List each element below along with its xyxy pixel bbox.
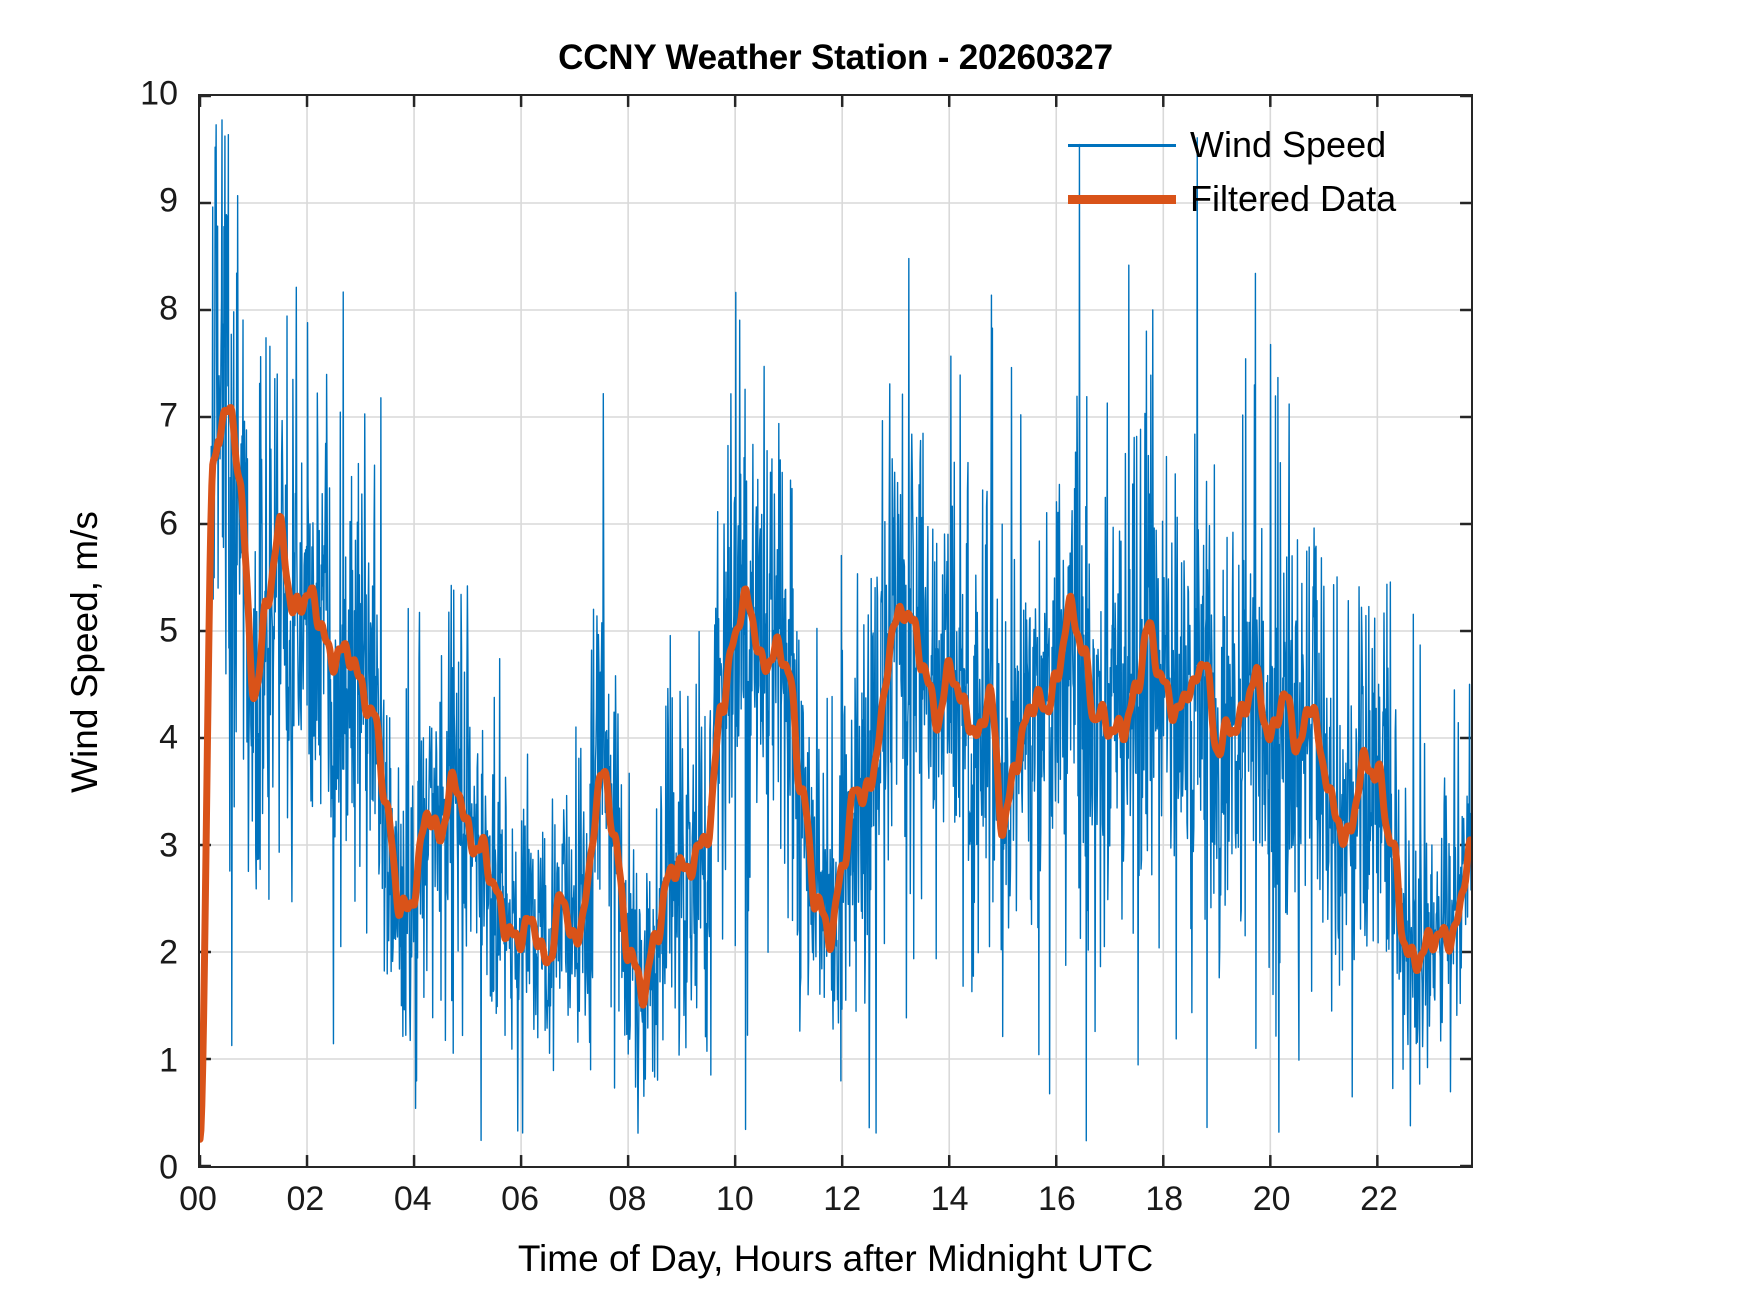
- chart-figure: CCNY Weather Station - 20260327 01234567…: [0, 0, 1750, 1313]
- x-tick-label: 22: [1319, 1180, 1439, 1219]
- legend-item-filtered-data[interactable]: Filtered Data: [1068, 172, 1468, 226]
- legend-label-filtered-data: Filtered Data: [1190, 178, 1396, 220]
- x-tick-label: 12: [782, 1180, 902, 1219]
- x-tick-label: 20: [1212, 1180, 1332, 1219]
- plot-area: [198, 94, 1473, 1168]
- x-tick-label: 06: [460, 1180, 580, 1219]
- y-tick-label: 1: [0, 1041, 196, 1080]
- y-tick-label: 9: [0, 182, 196, 221]
- plot-svg: [200, 96, 1471, 1166]
- x-tick-label: 16: [997, 1180, 1117, 1219]
- x-tick-label: 04: [353, 1180, 473, 1219]
- legend-label-wind-speed: Wind Speed: [1190, 124, 1386, 166]
- x-tick-label: 02: [245, 1180, 365, 1219]
- chart-legend: Wind Speed Filtered Data: [1064, 112, 1472, 232]
- x-tick-label: 10: [675, 1180, 795, 1219]
- legend-swatch-wind-speed-icon: [1068, 144, 1176, 147]
- x-tick-label: 08: [567, 1180, 687, 1219]
- legend-item-wind-speed[interactable]: Wind Speed: [1068, 118, 1468, 172]
- y-tick-label: 10: [0, 75, 196, 114]
- x-tick-label: 14: [890, 1180, 1010, 1219]
- x-tick-label: 18: [1104, 1180, 1224, 1219]
- x-axis-label: Time of Day, Hours after Midnight UTC: [198, 1238, 1473, 1280]
- y-axis-label: Wind Speed, m/s: [64, 302, 106, 1002]
- x-tick-label: 00: [138, 1180, 258, 1219]
- legend-swatch-filtered-data-icon: [1068, 195, 1176, 204]
- chart-title: CCNY Weather Station - 20260327: [198, 38, 1473, 78]
